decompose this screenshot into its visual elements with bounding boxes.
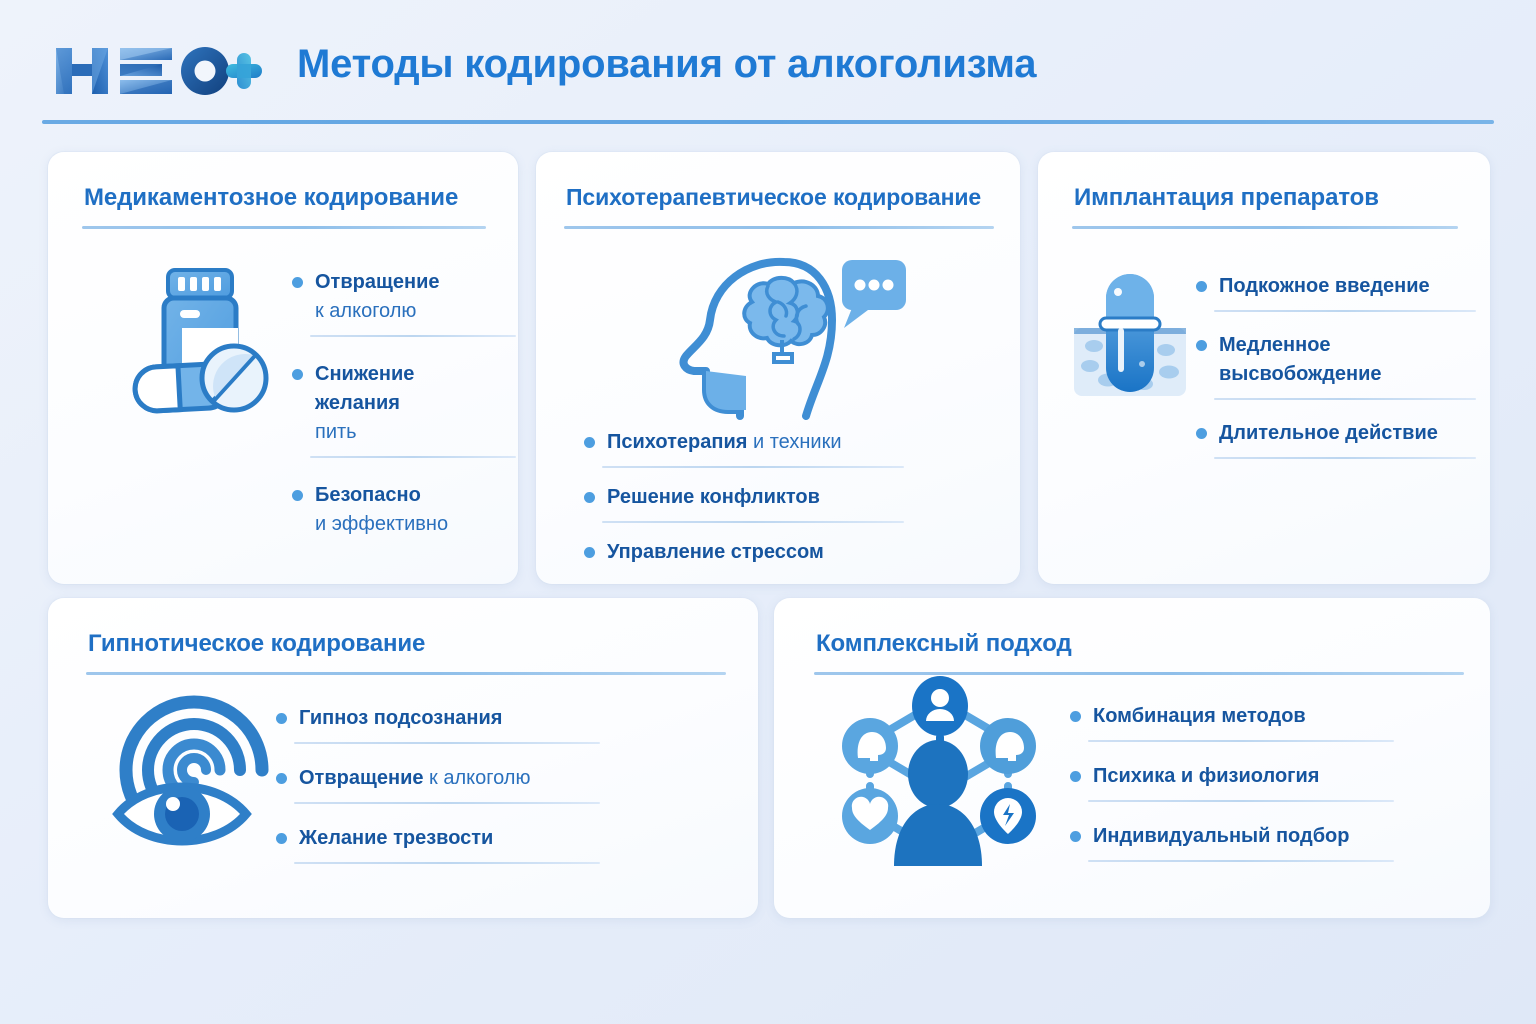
card-heading-divider	[564, 226, 994, 229]
item-strong: Психика и физиология	[1093, 765, 1319, 787]
item-strong: Психотерапия	[607, 431, 747, 453]
item-separator	[1214, 398, 1476, 400]
bullet-icon	[1070, 711, 1081, 722]
item-strong: Гипноз подсознания	[299, 707, 502, 729]
item-separator	[310, 456, 516, 458]
card-heading-divider	[814, 672, 1464, 675]
page-header: Методы кодирования от алкоголизма	[42, 34, 1494, 130]
header-divider	[42, 120, 1494, 124]
card-implantaciya[interactable]: Имплантация препаратов	[1038, 152, 1490, 584]
neo-plus-logo	[50, 40, 265, 102]
bullet-icon	[1196, 428, 1207, 439]
card-medikamentoznoe[interactable]: Медикаментозное кодирование	[48, 152, 518, 584]
infographic-page: Методы кодирования от алкоголизма Медика…	[0, 0, 1536, 1024]
card-kompleksnyy[interactable]: Комплексный подход	[774, 598, 1490, 918]
card-heading: Имплантация препаратов	[1074, 184, 1456, 212]
card-heading: Медикаментозное кодирование	[84, 184, 484, 212]
bullet-icon	[584, 547, 595, 558]
head-brain-speech-icon	[656, 250, 906, 420]
item-strong: Снижение желания	[315, 363, 414, 414]
item-separator	[1088, 740, 1394, 742]
item-strong: Длительное действие	[1219, 422, 1438, 444]
bullet-icon	[1196, 281, 1207, 292]
cards-row-top: Медикаментозное кодирование	[48, 152, 1490, 584]
bullet-icon	[1070, 831, 1081, 842]
item-light: и эффективно	[315, 513, 448, 535]
item-separator	[1214, 457, 1476, 459]
card-heading-divider	[1072, 226, 1458, 229]
list-item: Подкожное введение	[1196, 272, 1464, 301]
bullet-icon	[276, 713, 287, 724]
item-strong: Отвращение	[299, 767, 423, 789]
card-item-list: Психотерапия и техники Решение конфликто…	[584, 428, 900, 593]
item-strong: Отвращение	[315, 271, 439, 293]
list-item: Индивидуальный подбор	[1070, 822, 1390, 851]
list-item: Желание трезвости	[276, 824, 598, 853]
bullet-icon	[1070, 771, 1081, 782]
card-heading-divider	[82, 226, 486, 229]
list-item: Психотерапия и техники	[584, 428, 900, 457]
bullet-icon	[292, 277, 303, 288]
item-strong: Подкожное введение	[1219, 275, 1430, 297]
card-gipnoticheskoe[interactable]: Гипнотическое кодирование	[48, 598, 758, 918]
item-light: пить	[315, 421, 357, 443]
item-strong: Индивидуальный подбор	[1093, 825, 1349, 847]
pill-bottle-icon	[126, 264, 274, 424]
item-strong: Желание трезвости	[299, 827, 493, 849]
list-item: Снижение желанияпить	[292, 360, 498, 447]
item-strong: Управление стрессом	[607, 541, 824, 563]
bullet-icon	[276, 773, 287, 784]
item-separator	[1214, 310, 1476, 312]
card-heading: Комплексный подход	[816, 630, 1456, 658]
page-title: Методы кодирования от алкоголизма	[297, 42, 1036, 87]
bullet-icon	[292, 369, 303, 380]
card-item-list: Подкожное введение Медленноевысвобождени…	[1196, 272, 1464, 478]
item-separator	[310, 335, 516, 337]
card-heading: Психотерапевтическое кодирование	[566, 184, 986, 211]
hypnosis-eye-spiral-icon	[110, 686, 278, 854]
card-item-list: Отвращениек алкоголю Снижение желанияпит…	[292, 268, 498, 573]
list-item: Управление стрессом	[584, 538, 900, 567]
list-item: Гипноз подсознания	[276, 704, 598, 733]
item-light: к алкоголю	[429, 767, 530, 789]
item-strong: Решение конфликтов	[607, 486, 820, 508]
bullet-icon	[292, 490, 303, 501]
list-item: Медленноевысвобождение	[1196, 331, 1464, 389]
card-heading: Гипнотическое кодирование	[88, 630, 724, 658]
item-light: высвобождение	[1219, 363, 1382, 385]
item-separator	[602, 521, 904, 523]
item-separator	[1088, 860, 1394, 862]
cards-row-bottom: Гипнотическое кодирование	[48, 598, 1490, 918]
item-separator	[602, 466, 904, 468]
list-item: Решение конфликтов	[584, 483, 900, 512]
list-item: Безопаснои эффективно	[292, 481, 498, 539]
list-item: Отвращениек алкоголю	[292, 268, 498, 326]
item-strong: Безопасно	[315, 484, 421, 506]
item-separator	[294, 802, 600, 804]
item-light: и техники	[753, 431, 842, 453]
card-item-list: Гипноз подсознания Отвращение к алкоголю…	[276, 704, 598, 884]
list-item: Психика и физиология	[1070, 762, 1390, 791]
bullet-icon	[584, 437, 595, 448]
card-psihoterapevticheskoe[interactable]: Психотерапевтическое кодирование	[536, 152, 1020, 584]
people-network-icon	[828, 676, 1050, 870]
list-item: Комбинация методов	[1070, 702, 1390, 731]
item-separator	[294, 742, 600, 744]
item-separator	[1088, 800, 1394, 802]
card-item-list: Комбинация методов Психика и физиология …	[1070, 702, 1390, 882]
list-item: Отвращение к алкоголю	[276, 764, 598, 793]
bullet-icon	[276, 833, 287, 844]
bullet-icon	[1196, 340, 1207, 351]
implant-capsule-icon	[1056, 262, 1206, 422]
item-light: к алкоголю	[315, 300, 416, 322]
list-item: Длительное действие	[1196, 419, 1464, 448]
item-strong: Медленное	[1219, 334, 1331, 356]
item-separator	[294, 862, 600, 864]
item-strong: Комбинация методов	[1093, 705, 1306, 727]
card-heading-divider	[86, 672, 726, 675]
bullet-icon	[584, 492, 595, 503]
